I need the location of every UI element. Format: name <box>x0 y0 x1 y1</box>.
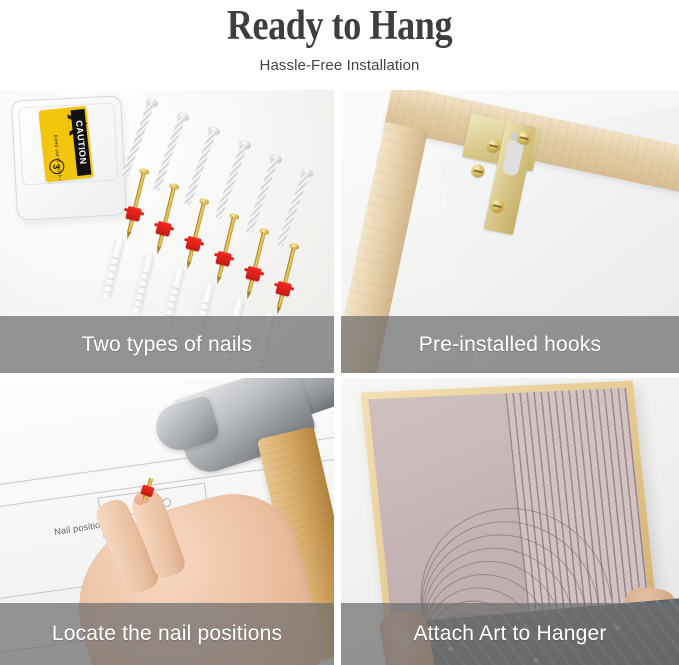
caption-locate-the-nail-positions: Locate the nail positions <box>0 603 334 665</box>
caution-word: CAUTION <box>74 120 89 165</box>
page-subtitle: Hassle-Free Installation <box>0 57 679 74</box>
panel-two-types-of-nails[interactable]: 3 Keep out of reach of children CAUTION … <box>0 90 334 373</box>
page-title: Ready to Hang <box>48 2 632 50</box>
panel-locate-the-nail-positions[interactable]: Nail position Locate the nail positions <box>0 378 334 665</box>
caution-sub-text: Keep out of reach of children <box>52 135 65 183</box>
bracket-screw-icon <box>470 163 485 178</box>
caution-label: 3 Keep out of reach of children CAUTION <box>38 106 93 183</box>
caption-pre-installed-hooks: Pre-installed hooks <box>341 316 679 373</box>
panel-grid: 3 Keep out of reach of children CAUTION … <box>0 90 679 665</box>
panel-pre-installed-hooks[interactable]: Pre-installed hooks <box>341 90 679 373</box>
wood-art-frame <box>360 381 657 630</box>
header: Ready to Hang Hassle-Free Installation <box>0 0 679 88</box>
ready-to-hang-infographic: Ready to Hang Hassle-Free Installation 3… <box>0 0 679 665</box>
panel-attach-art-to-hanger[interactable]: Attach Art to Hanger <box>341 378 679 665</box>
caption-attach-art-to-hanger: Attach Art to Hanger <box>341 603 679 665</box>
caption-two-types-of-nails: Two types of nails <box>0 316 334 373</box>
abstract-artwork <box>368 388 650 622</box>
